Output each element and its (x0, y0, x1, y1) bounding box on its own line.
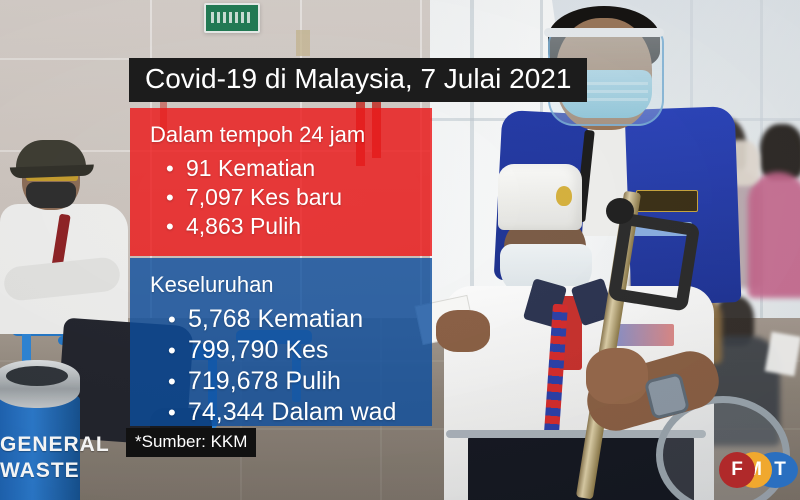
fmt-logo-letter-f: F (719, 452, 755, 488)
source-note: *Sumber: KKM (126, 428, 256, 457)
face-shield-band (544, 28, 664, 37)
waste-bin-label-line1: GENERAL (0, 432, 110, 458)
crowd-paper (765, 332, 800, 377)
patient-left-hand (436, 310, 490, 352)
crowd-person (748, 172, 800, 298)
list-item: 719,678 Pulih (188, 366, 422, 397)
daily-stats-heading: Dalam tempoh 24 jam (150, 122, 422, 148)
crutch-cuff (608, 212, 701, 311)
list-item: 799,790 Kes (188, 335, 422, 366)
list-item: 5,768 Kematian (188, 304, 422, 335)
crutch-knob (606, 198, 634, 224)
cumulative-stats-heading: Keseluruhan (150, 272, 422, 298)
daily-stats-list: 91 Kematian 7,097 Kes baru 4,863 Pulih (150, 154, 422, 241)
officer-name-tag (636, 190, 698, 212)
fmt-logo[interactable]: F M T (719, 452, 789, 488)
list-item: 91 Kematian (186, 154, 422, 183)
songkok-badge (556, 186, 572, 206)
window-mullion (470, 0, 474, 330)
cumulative-stats-panel: Keseluruhan 5,768 Kematian 799,790 Kes 7… (130, 258, 432, 426)
waste-bin-label-line2: WASTE (0, 458, 110, 484)
daily-stats-panel: Dalam tempoh 24 jam 91 Kematian 7,097 Ke… (130, 108, 432, 256)
patient-shirt-logo (612, 324, 674, 346)
infographic-canvas: GENERAL WASTE Covid-19 di Malaysia, 7 Ju… (0, 0, 800, 500)
face-mask-icon (26, 182, 76, 208)
page-title: Covid-19 di Malaysia, 7 Julai 2021 (129, 58, 587, 102)
cumulative-stats-list: 5,768 Kematian 799,790 Kes 719,678 Pulih… (150, 304, 422, 428)
list-item: 4,863 Pulih (186, 212, 422, 241)
list-item: 74,344 Dalam wad (188, 397, 422, 428)
exit-sign-icon (204, 3, 260, 33)
waste-bin-opening (6, 366, 68, 386)
waste-bin-label: GENERAL WASTE (0, 432, 110, 484)
wall-panel (296, 30, 310, 56)
list-item: 7,097 Kes baru (186, 183, 422, 212)
patient-right-hand (586, 348, 648, 404)
